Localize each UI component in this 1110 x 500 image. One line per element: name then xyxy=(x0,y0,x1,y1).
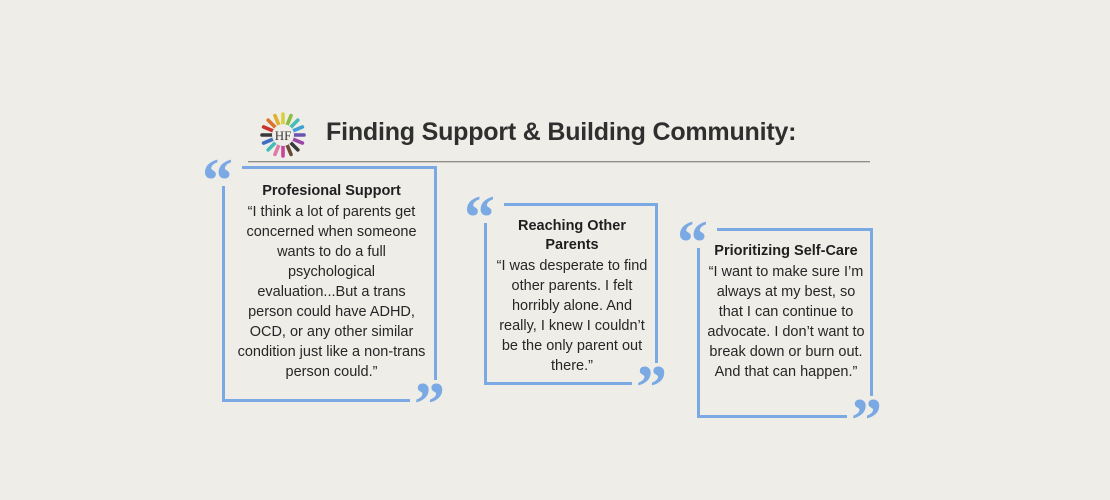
quote-card-body: Prioritizing Self-Care “I want to make s… xyxy=(705,242,867,382)
title-divider xyxy=(248,161,870,163)
open-quote-icon: “ xyxy=(677,212,708,274)
quote-card-reaching-other-parents: “ ” Reaching Other Parents “I was desper… xyxy=(484,203,658,385)
svg-text:HF: HF xyxy=(275,128,292,143)
slide-header: HF Finding Support & Building Community: xyxy=(248,108,873,166)
page-title: Finding Support & Building Community: xyxy=(326,118,796,147)
open-quote-icon: “ xyxy=(202,150,233,212)
close-quote-icon: ” xyxy=(414,374,445,436)
quote-card-text: “I was desperate to find other parents. … xyxy=(492,256,652,376)
quote-card-title: Prioritizing Self-Care xyxy=(705,242,867,261)
quote-card-title: Profesional Support xyxy=(236,182,427,201)
close-quote-icon: ” xyxy=(851,390,882,452)
slide-canvas: HF Finding Support & Building Community:… xyxy=(0,0,1110,500)
quote-card-body: Profesional Support “I think a lot of pa… xyxy=(236,182,427,382)
hf-sunburst-logo-icon: HF xyxy=(254,110,312,162)
quote-card-prioritizing-self-care: “ ” Prioritizing Self-Care “I want to ma… xyxy=(697,228,873,418)
quote-card-text: “I think a lot of parents get concerned … xyxy=(236,202,427,382)
open-quote-icon: “ xyxy=(464,187,495,249)
quote-card-title: Reaching Other Parents xyxy=(492,217,652,255)
quote-card-body: Reaching Other Parents “I was desperate … xyxy=(492,217,652,376)
quote-card-text: “I want to make sure I’m always at my be… xyxy=(705,262,867,382)
quote-card-profesional-support: “ ” Profesional Support “I think a lot o… xyxy=(222,166,437,402)
